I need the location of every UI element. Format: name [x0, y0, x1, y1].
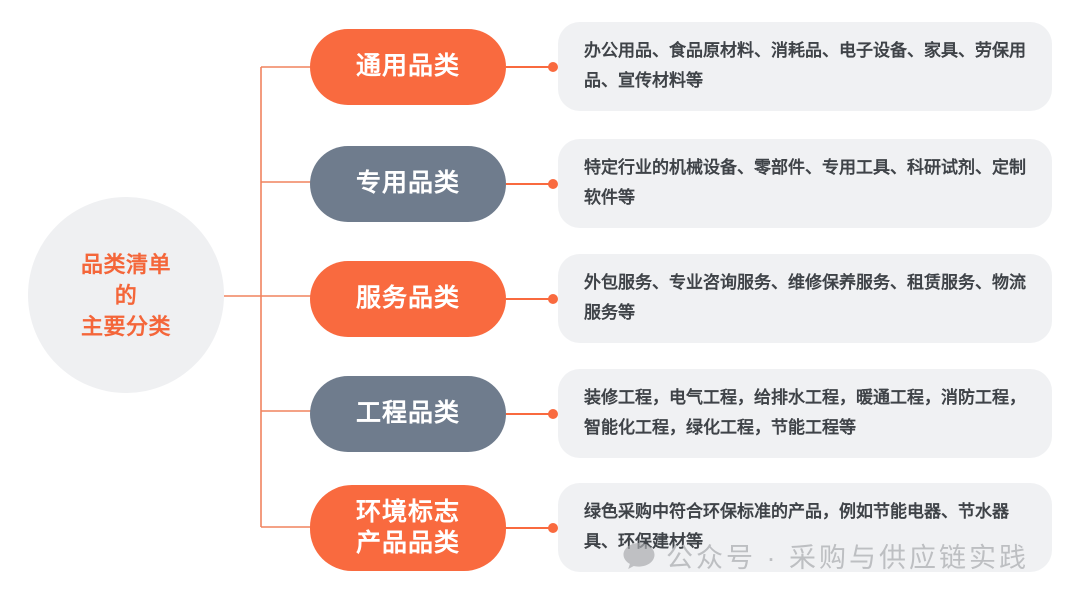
branch-description-4: 装修工程，电气工程，给排水工程，暖通工程，消防工程， 智能化工程，绿化工程，节能… — [558, 369, 1052, 458]
branch-connector-1 — [506, 62, 558, 72]
connector-stem-4 — [506, 413, 550, 415]
connector-dot-4 — [548, 409, 558, 419]
branch-label-5[interactable]: 环境标志 产品品类 — [310, 485, 506, 571]
central-topic-line-1: 品类清单 — [81, 249, 171, 280]
branch-row-1: 通用品类 办公用品、食品原材料、消耗品、电子设备、家具、劳保用品、宣传材料等 — [310, 22, 1080, 111]
branch-description-2: 特定行业的机械设备、零部件、专用工具、科研试剂、定制软件等 — [558, 139, 1052, 228]
central-topic-line-2: 的 — [115, 280, 138, 311]
branch-label-text-5-line-2: 产品品类 — [356, 528, 460, 559]
connector-dot-5 — [548, 523, 558, 533]
branch-row-4: 工程品类 装修工程，电气工程，给排水工程，暖通工程，消防工程， 智能化工程，绿化… — [310, 369, 1080, 458]
branch-label-text-2: 专用品类 — [356, 168, 460, 199]
branch-row-3: 服务品类 外包服务、专业咨询服务、维修保养服务、租赁服务、物流服务等 — [310, 254, 1080, 343]
connector-stem-1 — [506, 66, 550, 68]
watermark-text: 公众号 · 采购与供应链实践 — [666, 536, 1029, 575]
branch-connector-4 — [506, 409, 558, 419]
branch-row-2: 专用品类 特定行业的机械设备、零部件、专用工具、科研试剂、定制软件等 — [310, 139, 1080, 228]
central-topic-line-3: 主要分类 — [81, 311, 171, 342]
connector-stem-3 — [506, 298, 550, 300]
branch-label-text-1: 通用品类 — [356, 51, 460, 82]
connector-stem-5 — [506, 527, 550, 529]
branch-label-2[interactable]: 专用品类 — [310, 146, 506, 222]
connector-dot-1 — [548, 62, 558, 72]
branch-label-text-5-line-1: 环境标志 — [356, 497, 460, 528]
branch-description-1: 办公用品、食品原材料、消耗品、电子设备、家具、劳保用品、宣传材料等 — [558, 22, 1052, 111]
branch-connector-3 — [506, 294, 558, 304]
central-topic: 品类清单 的 主要分类 — [28, 197, 224, 393]
connector-stem-2 — [506, 183, 550, 185]
branch-label-3[interactable]: 服务品类 — [310, 261, 506, 337]
mindmap-diagram: 品类清单 的 主要分类 通用品类 办公用品、食品原材料、消耗品、电子设备、家具、… — [0, 0, 1080, 590]
branch-label-text-3: 服务品类 — [356, 283, 460, 314]
connector-dot-3 — [548, 294, 558, 304]
branch-label-1[interactable]: 通用品类 — [310, 29, 506, 105]
branch-connector-2 — [506, 179, 558, 189]
watermark: 公众号 · 采购与供应链实践 — [622, 536, 1029, 575]
branch-connector-5 — [506, 523, 558, 533]
connector-dot-2 — [548, 179, 558, 189]
branch-label-4[interactable]: 工程品类 — [310, 376, 506, 452]
branch-description-3: 外包服务、专业咨询服务、维修保养服务、租赁服务、物流服务等 — [558, 254, 1052, 343]
chat-bubble-icon — [622, 541, 656, 571]
branch-label-text-4: 工程品类 — [356, 398, 460, 429]
